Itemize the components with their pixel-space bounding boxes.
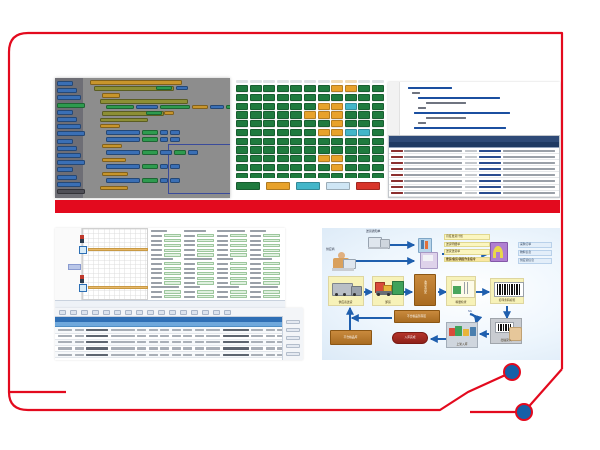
table-toolbar[interactable] xyxy=(55,308,303,317)
location-cell[interactable] xyxy=(236,146,248,153)
location-cell[interactable] xyxy=(345,120,357,127)
schedule-field-row xyxy=(184,253,214,256)
schedule-field-value[interactable] xyxy=(230,290,248,293)
schedule-field-label xyxy=(217,263,228,265)
location-cell[interactable] xyxy=(372,103,384,110)
toolbar-button[interactable] xyxy=(125,310,132,315)
schedule-tab-strip[interactable] xyxy=(55,300,285,308)
schedule-field-value[interactable] xyxy=(230,281,248,284)
location-cell[interactable] xyxy=(290,173,302,178)
location-cell[interactable] xyxy=(250,146,262,153)
schedule-field-value[interactable] xyxy=(197,262,215,265)
code-block[interactable] xyxy=(102,172,128,176)
location-cell[interactable] xyxy=(331,120,343,127)
code-block[interactable] xyxy=(188,150,198,155)
location-cell[interactable] xyxy=(358,129,370,136)
log-field xyxy=(391,174,403,176)
log-field xyxy=(465,150,477,152)
location-cell[interactable] xyxy=(318,155,330,162)
palette-block[interactable] xyxy=(57,81,73,86)
label-material-info: 物料信息 xyxy=(518,250,552,256)
location-cell[interactable] xyxy=(358,111,370,118)
panel-code-console[interactable] xyxy=(388,82,560,198)
schedule-field-value[interactable] xyxy=(230,244,248,247)
table-row[interactable] xyxy=(55,358,303,360)
panel-data-table[interactable] xyxy=(55,308,303,360)
location-cell[interactable] xyxy=(358,164,370,171)
location-cell[interactable] xyxy=(358,120,370,127)
location-cell[interactable] xyxy=(318,164,330,171)
schedule-field-value[interactable] xyxy=(197,281,215,284)
location-cell[interactable] xyxy=(358,173,370,178)
location-cell[interactable] xyxy=(345,138,357,145)
location-cell[interactable] xyxy=(345,85,357,92)
code-block[interactable] xyxy=(102,93,120,98)
code-block[interactable] xyxy=(160,150,172,155)
location-cell[interactable] xyxy=(236,138,248,145)
location-cell[interactable] xyxy=(250,111,262,118)
blocks-palette[interactable] xyxy=(55,78,83,198)
location-grid-row xyxy=(236,173,384,178)
table-row-list[interactable] xyxy=(55,327,303,360)
toolbar-button[interactable] xyxy=(202,310,209,315)
location-cell[interactable] xyxy=(250,164,262,171)
log-field xyxy=(465,168,477,170)
location-cell[interactable] xyxy=(318,111,330,118)
schedule-field-value[interactable] xyxy=(263,262,281,265)
code-block[interactable] xyxy=(100,186,128,190)
code-block[interactable] xyxy=(170,137,180,142)
palette-block[interactable] xyxy=(57,139,73,144)
toolbar-button[interactable] xyxy=(70,310,77,315)
location-cell[interactable] xyxy=(345,173,357,178)
log-field xyxy=(479,162,501,164)
blocks-canvas[interactable] xyxy=(86,78,230,198)
schedule-field-value[interactable] xyxy=(230,277,248,280)
location-cell[interactable] xyxy=(250,173,262,178)
location-cell[interactable] xyxy=(358,103,370,110)
location-cell[interactable] xyxy=(331,164,343,171)
schedule-field-value[interactable] xyxy=(263,272,281,275)
location-cell[interactable] xyxy=(331,138,343,145)
location-cell[interactable] xyxy=(304,103,316,110)
location-cell[interactable] xyxy=(290,120,302,127)
location-cell[interactable] xyxy=(277,94,289,101)
location-cell[interactable] xyxy=(331,85,343,92)
schedule-field-value[interactable] xyxy=(230,262,248,265)
code-block[interactable] xyxy=(176,86,188,90)
toolbar-button[interactable] xyxy=(169,310,176,315)
code-block[interactable] xyxy=(142,150,158,155)
log-console[interactable] xyxy=(388,135,560,198)
code-block[interactable] xyxy=(146,111,162,115)
table-cell xyxy=(86,335,108,337)
palette-block[interactable] xyxy=(57,175,77,180)
code-block[interactable] xyxy=(142,178,158,183)
table-cell xyxy=(75,347,84,349)
side-action-button[interactable] xyxy=(286,344,300,348)
location-cell[interactable] xyxy=(372,120,384,127)
palette-block[interactable] xyxy=(57,124,81,129)
location-cell[interactable] xyxy=(290,164,302,171)
location-cell[interactable] xyxy=(263,138,275,145)
location-cell[interactable] xyxy=(236,164,248,171)
location-cell[interactable] xyxy=(345,129,357,136)
location-column-header xyxy=(331,80,343,83)
log-field xyxy=(465,180,477,182)
toolbar-button[interactable] xyxy=(59,310,66,315)
schedule-field-value[interactable] xyxy=(164,253,182,256)
location-cell[interactable] xyxy=(304,173,316,178)
location-cell[interactable] xyxy=(290,138,302,145)
palette-block[interactable] xyxy=(57,146,77,151)
code-block[interactable] xyxy=(100,124,120,128)
code-block[interactable] xyxy=(160,105,190,109)
log-field xyxy=(479,192,501,194)
code-block[interactable] xyxy=(174,150,186,155)
location-cell[interactable] xyxy=(290,85,302,92)
location-cell[interactable] xyxy=(290,94,302,101)
code-block[interactable] xyxy=(102,144,122,148)
location-cell[interactable] xyxy=(250,103,262,110)
schedule-field-value[interactable] xyxy=(263,244,281,247)
table-cell xyxy=(251,329,263,331)
schedule-field-value[interactable] xyxy=(230,239,248,242)
location-cell[interactable] xyxy=(304,164,316,171)
palette-block[interactable] xyxy=(57,117,77,122)
location-cell[interactable] xyxy=(277,103,289,110)
palette-block[interactable] xyxy=(57,153,81,158)
schedule-field-value[interactable] xyxy=(263,249,281,252)
location-cell[interactable] xyxy=(263,111,275,118)
schedule-field-value[interactable] xyxy=(164,290,182,293)
location-cell[interactable] xyxy=(331,146,343,153)
schedule-field-value[interactable] xyxy=(197,253,215,256)
palette-block[interactable] xyxy=(57,110,73,115)
location-cell[interactable] xyxy=(263,146,275,153)
table-cell xyxy=(160,335,169,337)
schedule-field-value[interactable] xyxy=(230,267,248,270)
location-cell[interactable] xyxy=(277,85,289,92)
schedule-field-value[interactable] xyxy=(263,277,281,280)
location-cell[interactable] xyxy=(250,94,262,101)
schedule-field-value[interactable] xyxy=(164,272,182,275)
code-block[interactable] xyxy=(170,164,180,169)
location-cell[interactable] xyxy=(250,129,262,136)
location-cell[interactable] xyxy=(304,120,316,127)
panel-location-grid[interactable] xyxy=(236,80,384,178)
code-block[interactable] xyxy=(226,105,230,109)
schedule-field-value[interactable] xyxy=(197,234,215,237)
palette-block[interactable] xyxy=(57,131,85,136)
palette-block[interactable] xyxy=(57,160,85,165)
code-block[interactable] xyxy=(106,178,140,183)
location-cell[interactable] xyxy=(331,111,343,118)
location-cell[interactable] xyxy=(277,146,289,153)
location-cell[interactable] xyxy=(250,120,262,127)
location-cell[interactable] xyxy=(345,103,357,110)
location-cell[interactable] xyxy=(358,138,370,145)
code-block[interactable] xyxy=(90,80,182,85)
table-cell xyxy=(251,354,263,356)
location-cell[interactable] xyxy=(236,111,248,118)
code-block[interactable] xyxy=(156,86,172,90)
location-cell[interactable] xyxy=(236,173,248,178)
side-action-button[interactable] xyxy=(286,328,300,332)
palette-block[interactable] xyxy=(57,167,73,172)
location-cell[interactable] xyxy=(236,120,248,127)
code-block[interactable] xyxy=(106,164,140,169)
schedule-field-value[interactable] xyxy=(197,249,215,252)
table-cell xyxy=(58,341,72,343)
location-cell[interactable] xyxy=(290,129,302,136)
location-cell[interactable] xyxy=(263,164,275,171)
location-cell[interactable] xyxy=(345,164,357,171)
code-editor-area[interactable] xyxy=(388,82,560,136)
palette-block[interactable] xyxy=(57,103,85,108)
location-cell[interactable] xyxy=(372,155,384,162)
table-cell xyxy=(172,341,181,343)
side-action-button[interactable] xyxy=(286,352,300,356)
location-cell[interactable] xyxy=(331,129,343,136)
location-cell[interactable] xyxy=(358,155,370,162)
location-cell[interactable] xyxy=(372,129,384,136)
location-cell[interactable] xyxy=(263,103,275,110)
schedule-field-value[interactable] xyxy=(263,267,281,270)
gantt-bar[interactable] xyxy=(88,248,148,251)
location-cell[interactable] xyxy=(358,85,370,92)
location-cell[interactable] xyxy=(318,85,330,92)
location-cell[interactable] xyxy=(236,103,248,110)
location-cell[interactable] xyxy=(318,94,330,101)
schedule-field-label xyxy=(151,240,162,242)
toolbar-button[interactable] xyxy=(213,310,220,315)
location-cell[interactable] xyxy=(318,129,330,136)
location-cell[interactable] xyxy=(345,155,357,162)
panel-blocks-editor[interactable] xyxy=(55,78,230,198)
location-cell[interactable] xyxy=(290,155,302,162)
location-cell[interactable] xyxy=(304,138,316,145)
schedule-field-value[interactable] xyxy=(197,267,215,270)
schedule-group-title xyxy=(184,230,206,232)
palette-block[interactable] xyxy=(57,189,85,194)
schedule-field-value[interactable] xyxy=(164,267,182,270)
toolbar-button[interactable] xyxy=(180,310,187,315)
location-cell[interactable] xyxy=(277,138,289,145)
toolbar-button[interactable] xyxy=(136,310,143,315)
location-cell[interactable] xyxy=(318,120,330,127)
schedule-field-value[interactable] xyxy=(164,239,182,242)
location-cell[interactable] xyxy=(358,146,370,153)
schedule-field-value[interactable] xyxy=(197,277,215,280)
location-cell[interactable] xyxy=(372,85,384,92)
table-cell xyxy=(58,354,72,356)
schedule-field-label xyxy=(184,272,195,274)
panel-schedule-gantt[interactable] xyxy=(55,228,285,308)
schedule-field-value[interactable] xyxy=(197,295,215,298)
schedule-field-value[interactable] xyxy=(197,244,215,247)
code-block[interactable] xyxy=(164,111,174,115)
toolbar-button[interactable] xyxy=(147,310,154,315)
location-cell[interactable] xyxy=(304,146,316,153)
schedule-field-value[interactable] xyxy=(164,277,182,280)
code-block[interactable] xyxy=(192,105,208,109)
location-cell[interactable] xyxy=(236,94,248,101)
side-action-button[interactable] xyxy=(286,320,300,324)
log-field xyxy=(404,174,462,176)
location-cell[interactable] xyxy=(318,146,330,153)
gantt-bar[interactable] xyxy=(88,286,148,289)
location-cell[interactable] xyxy=(250,138,262,145)
code-block[interactable] xyxy=(100,118,148,122)
location-cell[interactable] xyxy=(236,85,248,92)
code-block[interactable] xyxy=(136,105,158,109)
toolbar-button[interactable] xyxy=(81,310,88,315)
location-cell[interactable] xyxy=(318,173,330,178)
code-block[interactable] xyxy=(160,137,168,142)
schedule-field-value[interactable] xyxy=(230,272,248,275)
table-cell xyxy=(75,329,84,331)
schedule-field-value[interactable] xyxy=(164,262,182,265)
location-cell[interactable] xyxy=(372,138,384,145)
schedule-node-handle[interactable] xyxy=(79,246,87,254)
code-block[interactable] xyxy=(170,178,180,183)
location-cell[interactable] xyxy=(277,155,289,162)
toolbar-button[interactable] xyxy=(158,310,165,315)
location-cell[interactable] xyxy=(277,120,289,127)
schedule-field-value[interactable] xyxy=(164,249,182,252)
schedule-field-value[interactable] xyxy=(263,295,281,298)
schedule-field-value[interactable] xyxy=(164,295,182,298)
code-block[interactable] xyxy=(142,164,158,169)
location-cell[interactable] xyxy=(277,173,289,178)
location-cell[interactable] xyxy=(304,129,316,136)
location-cell[interactable] xyxy=(263,173,275,178)
location-cell[interactable] xyxy=(236,155,248,162)
code-block[interactable] xyxy=(160,178,168,183)
location-cell[interactable] xyxy=(331,155,343,162)
schedule-field-value[interactable] xyxy=(263,234,281,237)
log-field xyxy=(391,192,403,194)
code-block[interactable] xyxy=(210,105,224,109)
location-cell[interactable] xyxy=(372,164,384,171)
location-cell[interactable] xyxy=(358,94,370,101)
code-block[interactable] xyxy=(106,130,140,135)
schedule-field-label xyxy=(250,254,261,256)
log-row[interactable] xyxy=(389,197,559,198)
schedule-field-value[interactable] xyxy=(164,281,182,284)
location-cell[interactable] xyxy=(290,111,302,118)
schedule-field-value[interactable] xyxy=(164,234,182,237)
code-block[interactable] xyxy=(142,130,158,135)
location-cell[interactable] xyxy=(331,103,343,110)
location-cell[interactable] xyxy=(236,129,248,136)
location-cell[interactable] xyxy=(331,173,343,178)
location-cell[interactable] xyxy=(290,103,302,110)
location-cell[interactable] xyxy=(277,164,289,171)
code-block[interactable] xyxy=(142,137,158,142)
code-block[interactable] xyxy=(106,137,140,142)
location-cell[interactable] xyxy=(304,155,316,162)
location-cell[interactable] xyxy=(372,173,384,178)
code-block[interactable] xyxy=(106,105,134,109)
log-field xyxy=(404,186,462,188)
table-side-panel[interactable] xyxy=(282,316,303,360)
schedule-field-value[interactable] xyxy=(263,239,281,242)
table-cell xyxy=(75,341,84,343)
code-block[interactable] xyxy=(160,164,168,169)
schedule-node-handle[interactable] xyxy=(79,284,87,292)
palette-block[interactable] xyxy=(57,88,77,93)
code-block[interactable] xyxy=(160,130,168,135)
location-cell[interactable] xyxy=(345,94,357,101)
schedule-field-value[interactable] xyxy=(263,253,281,256)
toolbar-button[interactable] xyxy=(92,310,99,315)
toolbar-button[interactable] xyxy=(224,310,231,315)
schedule-field-value[interactable] xyxy=(230,234,248,237)
schedule-field-row xyxy=(151,267,181,270)
location-cell[interactable] xyxy=(372,94,384,101)
schedule-field-label xyxy=(217,249,228,251)
schedule-field-value[interactable] xyxy=(230,295,248,298)
location-cell[interactable] xyxy=(372,146,384,153)
location-cell[interactable] xyxy=(263,120,275,127)
location-cell[interactable] xyxy=(290,146,302,153)
schedule-field-value[interactable] xyxy=(197,290,215,293)
toolbar-button[interactable] xyxy=(103,310,110,315)
location-cell[interactable] xyxy=(318,138,330,145)
schedule-field-row xyxy=(151,234,181,237)
location-cell[interactable] xyxy=(345,111,357,118)
side-action-button[interactable] xyxy=(286,336,300,340)
location-cell[interactable] xyxy=(304,111,316,118)
schedule-field-value[interactable] xyxy=(230,249,248,252)
location-cell[interactable] xyxy=(345,146,357,153)
schedule-field-value[interactable] xyxy=(197,272,215,275)
location-cell[interactable] xyxy=(263,85,275,92)
location-cell[interactable] xyxy=(304,94,316,101)
schedule-field-value[interactable] xyxy=(197,239,215,242)
table-cell xyxy=(111,329,135,331)
palette-block[interactable] xyxy=(57,182,81,187)
toolbar-button[interactable] xyxy=(191,310,198,315)
location-cell[interactable] xyxy=(318,103,330,110)
code-block[interactable] xyxy=(106,150,140,155)
location-cell[interactable] xyxy=(263,155,275,162)
schedule-field-value[interactable] xyxy=(164,244,182,247)
toolbar-button[interactable] xyxy=(114,310,121,315)
code-block[interactable] xyxy=(102,158,126,162)
location-cell[interactable] xyxy=(250,85,262,92)
code-block[interactable] xyxy=(100,99,188,104)
location-cell[interactable] xyxy=(304,85,316,92)
table-cell xyxy=(149,354,158,356)
log-row-list[interactable] xyxy=(389,148,559,198)
location-cell[interactable] xyxy=(372,111,384,118)
location-cell[interactable] xyxy=(331,94,343,101)
schedule-field-value[interactable] xyxy=(263,290,281,293)
location-cell[interactable] xyxy=(277,111,289,118)
code-block[interactable] xyxy=(170,130,180,135)
palette-block[interactable] xyxy=(57,95,81,100)
location-cell[interactable] xyxy=(250,155,262,162)
schedule-field-value[interactable] xyxy=(263,281,281,284)
location-cell[interactable] xyxy=(277,129,289,136)
location-cell[interactable] xyxy=(263,129,275,136)
table-cell xyxy=(266,335,275,337)
location-cell[interactable] xyxy=(263,94,275,101)
schedule-field-value[interactable] xyxy=(230,253,248,256)
